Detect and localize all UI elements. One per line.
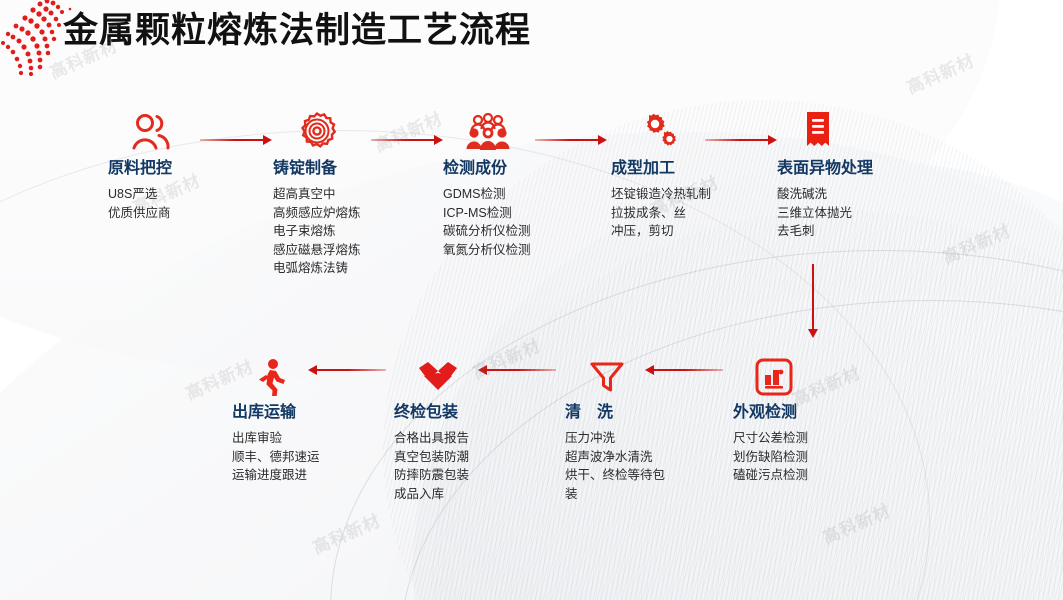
step-detail-lines: GDMS检测 ICP-MS检测 碳硫分析仪检测 氧氮分析仪检测 <box>443 185 531 259</box>
detail-line: 高频感应炉熔炼 <box>273 204 361 223</box>
step-raw-material-control[interactable]: 原料把控 U8S严选 优质供应商 <box>108 108 174 222</box>
detail-line: 磕碰污点检测 <box>733 466 808 485</box>
detail-line: 烘干、终检等待包装 <box>565 466 673 503</box>
step-detail-lines: 出库审验 顺丰、德邦速运 运输进度跟进 <box>232 429 320 485</box>
step-ingot-preparation[interactable]: 铸锭制备 超高真空中 高频感应炉熔炼 电子束熔炼 感应磁悬浮熔炼 电弧熔炼法铸 <box>273 108 361 278</box>
step-cleaning[interactable]: 清 洗 压力冲洗 超声波净水清洗 烘干、终检等待包装 <box>565 352 683 503</box>
step-surface-treatment[interactable]: 表面异物处理 酸洗碱洗 三维立体抛光 去毛刺 <box>777 108 873 241</box>
step-title: 检测成份 <box>443 158 531 180</box>
detail-line: 真空包装防潮 <box>394 448 469 467</box>
step-title: 外观检测 <box>733 402 808 424</box>
step-title: 铸锭制备 <box>273 158 361 180</box>
step-detail-lines: 酸洗碱洗 三维立体抛光 去毛刺 <box>777 185 873 241</box>
step-title: 成型加工 <box>611 158 711 180</box>
watermark: 高科新材 <box>370 104 446 156</box>
step-detail-lines: 压力冲洗 超声波净水清洗 烘干、终检等待包装 <box>565 429 683 503</box>
funnel-icon <box>565 352 683 396</box>
running-person-icon <box>232 352 320 396</box>
arrow-row1-to-row2 <box>807 264 819 338</box>
arrow-step8-to-step9 <box>308 364 386 376</box>
detail-line: 电子束熔炼 <box>273 222 361 241</box>
detail-line: 合格出具报告 <box>394 429 469 448</box>
step-detail-lines: 合格出具报告 真空包装防潮 防摔防震包装 成品入库 <box>394 429 469 503</box>
step-detail-lines: U8S严选 优质供应商 <box>108 185 174 222</box>
detail-line: ICP-MS检测 <box>443 204 531 223</box>
document-stripes-icon <box>777 108 873 152</box>
detail-line: U8S严选 <box>108 185 174 204</box>
detail-line: 感应磁悬浮熔炼 <box>273 241 361 260</box>
page-title: 金属颗粒熔炼法制造工艺流程 <box>63 8 531 54</box>
inspection-box-icon <box>733 352 808 396</box>
arrow-step4-to-step5 <box>705 134 777 146</box>
gears-icon <box>611 108 711 152</box>
detail-line: 出库审验 <box>232 429 320 448</box>
step-appearance-inspection[interactable]: 外观检测 尺寸公差检测 划伤缺陷检测 磕碰污点检测 <box>733 352 808 485</box>
bg-swoosh-left <box>0 0 1063 600</box>
detail-line: 三维立体抛光 <box>777 204 873 223</box>
detail-line: 优质供应商 <box>108 204 174 223</box>
detail-line: 超声波净水清洗 <box>565 448 683 467</box>
step-title: 表面异物处理 <box>777 158 873 180</box>
slide-canvas: 金属颗粒熔炼法制造工艺流程 原料把控 U8S严选 优质供应商 <box>0 0 1063 600</box>
detail-line: 划伤缺陷检测 <box>733 448 808 467</box>
detail-line: 冲压，剪切 <box>611 222 711 241</box>
detail-line: 电弧熔炼法铸 <box>273 259 361 278</box>
detail-line: 尺寸公差检测 <box>733 429 808 448</box>
detail-line: 运输进度跟进 <box>232 466 320 485</box>
watermark: 高科新材 <box>902 46 978 98</box>
background-decoration <box>0 0 1063 600</box>
detail-line: 碳硫分析仪检测 <box>443 222 531 241</box>
two-people-icon <box>108 108 174 152</box>
arrow-step1-to-step2 <box>200 134 272 146</box>
step-outbound-transport[interactable]: 出库运输 出库审验 顺丰、德邦速运 运输进度跟进 <box>232 352 320 485</box>
detail-line: GDMS检测 <box>443 185 531 204</box>
detail-line: 酸洗碱洗 <box>777 185 873 204</box>
arrow-step2-to-step3 <box>371 134 443 146</box>
arrow-step3-to-step4 <box>535 134 607 146</box>
open-box-icon <box>394 352 469 396</box>
step-detail-lines: 尺寸公差检测 划伤缺陷检测 磕碰污点检测 <box>733 429 808 485</box>
people-group-icon <box>443 108 531 152</box>
step-detail-lines: 坯锭锻造冷热轧制 拉拔成条、丝 冲压，剪切 <box>611 185 711 241</box>
step-title: 终检包装 <box>394 402 469 424</box>
watermark: 高科新材 <box>308 506 384 558</box>
step-title: 清 洗 <box>565 402 683 424</box>
step-detail-lines: 超高真空中 高频感应炉熔炼 电子束熔炼 感应磁悬浮熔炼 电弧熔炼法铸 <box>273 185 361 278</box>
detail-line: 成品入库 <box>394 485 469 504</box>
gear-ring-icon <box>273 108 361 152</box>
detail-line: 氧氮分析仪检测 <box>443 241 531 260</box>
detail-line: 防摔防震包装 <box>394 466 469 485</box>
step-final-inspection-packaging[interactable]: 终检包装 合格出具报告 真空包装防潮 防摔防震包装 成品入库 <box>394 352 469 503</box>
detail-line: 压力冲洗 <box>565 429 683 448</box>
detail-line: 顺丰、德邦速运 <box>232 448 320 467</box>
step-title: 出库运输 <box>232 402 320 424</box>
bg-arc-2 <box>400 300 1063 600</box>
step-composition-testing[interactable]: 检测成份 GDMS检测 ICP-MS检测 碳硫分析仪检测 氧氮分析仪检测 <box>443 108 531 259</box>
detail-line: 超高真空中 <box>273 185 361 204</box>
watermark: 高科新材 <box>818 496 894 548</box>
detail-line: 去毛刺 <box>777 222 873 241</box>
detail-line: 拉拔成条、丝 <box>611 204 711 223</box>
step-title: 原料把控 <box>108 158 174 180</box>
detail-line: 坯锭锻造冷热轧制 <box>611 185 711 204</box>
watermark: 高科新材 <box>938 216 1014 268</box>
step-forming-processing[interactable]: 成型加工 坯锭锻造冷热轧制 拉拔成条、丝 冲压，剪切 <box>611 108 711 241</box>
arrow-step7-to-step8 <box>478 364 556 376</box>
